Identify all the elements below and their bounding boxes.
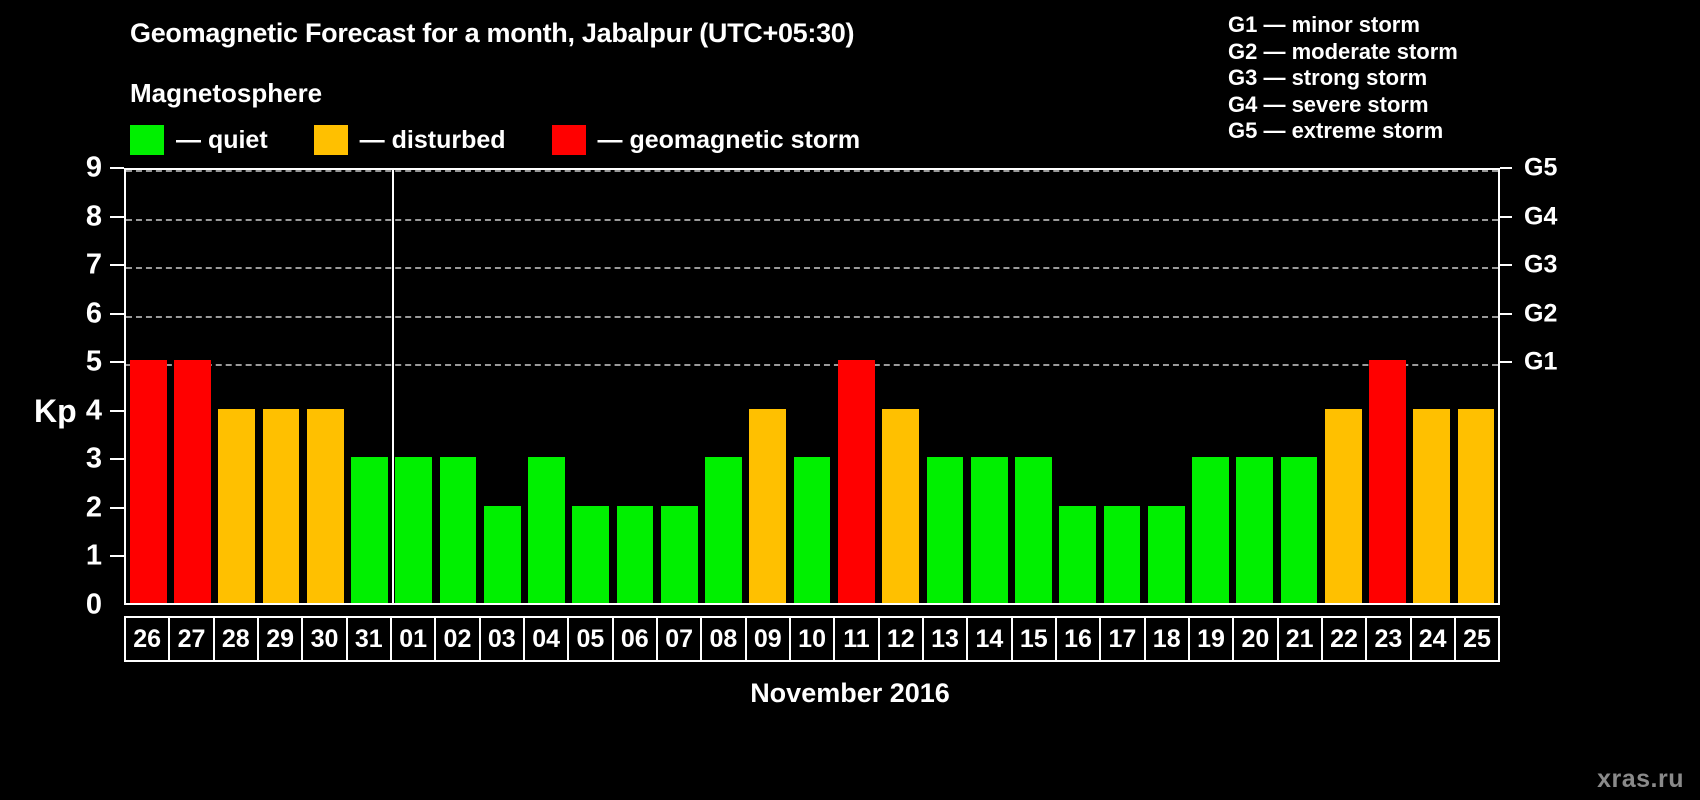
orange-square-swatch — [314, 125, 348, 155]
bar-cell[interactable] — [1056, 170, 1100, 603]
date-label: 31 — [355, 627, 383, 652]
bar-13[interactable] — [927, 457, 964, 603]
date-cell-27[interactable]: 27 — [168, 616, 214, 662]
date-label: 08 — [710, 627, 738, 652]
y-tick-mark-7 — [110, 264, 124, 266]
date-cell-06[interactable]: 06 — [612, 616, 658, 662]
bar-28[interactable] — [218, 409, 255, 603]
legend-item-quiet: — quiet — [130, 123, 268, 157]
bar-20[interactable] — [1236, 457, 1273, 603]
plot-inner — [126, 170, 1498, 603]
date-cell-11[interactable]: 11 — [833, 616, 879, 662]
y-tick-mark-8 — [110, 216, 124, 218]
y-tick-mark-5 — [110, 361, 124, 363]
x-axis-title: November 2016 — [0, 678, 1700, 709]
page-title: Geomagnetic Forecast for a month, Jabalp… — [130, 18, 854, 49]
bar-08[interactable] — [705, 457, 742, 603]
date-cell-31[interactable]: 31 — [346, 616, 392, 662]
date-label: 18 — [1153, 627, 1181, 652]
y-tick-label-4: 4 — [86, 394, 102, 427]
date-cell-24[interactable]: 24 — [1410, 616, 1456, 662]
g-tick-mark-g4 — [1500, 216, 1512, 218]
date-cell-22[interactable]: 22 — [1321, 616, 1367, 662]
bar-cell[interactable] — [613, 170, 657, 603]
bar-cell[interactable] — [657, 170, 701, 603]
bar-cell[interactable] — [1233, 170, 1277, 603]
legend-heading: Magnetosphere — [130, 78, 322, 109]
date-label: 25 — [1463, 627, 1491, 652]
date-label: 12 — [887, 627, 915, 652]
date-label: 01 — [399, 627, 427, 652]
y-axis-kp: 0123456789 — [0, 168, 124, 605]
bar-03[interactable] — [484, 506, 521, 603]
bar-cell[interactable] — [1188, 170, 1232, 603]
y-tick-mark-3 — [110, 458, 124, 460]
date-label: 19 — [1197, 627, 1225, 652]
g-tick-mark-g5 — [1500, 167, 1512, 169]
y-tick-mark-9 — [110, 167, 124, 169]
bar-04[interactable] — [528, 457, 565, 603]
bar-cell[interactable] — [215, 170, 259, 603]
date-cell-15[interactable]: 15 — [1011, 616, 1057, 662]
y-tick-label-0: 0 — [86, 589, 102, 622]
bar-27[interactable] — [174, 360, 211, 603]
bar-cell[interactable] — [1365, 170, 1409, 603]
bar-23[interactable] — [1369, 360, 1406, 603]
g-tick-mark-g3 — [1500, 264, 1512, 266]
red-square-swatch — [552, 125, 586, 155]
magnetosphere-legend: — quiet — disturbed — geomagnetic storm — [130, 123, 860, 157]
date-label: 16 — [1064, 627, 1092, 652]
date-label: 10 — [798, 627, 826, 652]
bar-cell[interactable] — [392, 170, 436, 603]
bar-cell[interactable] — [879, 170, 923, 603]
y-tick-label-5: 5 — [86, 346, 102, 379]
date-cell-12[interactable]: 12 — [878, 616, 924, 662]
g-tick-mark-g1 — [1500, 361, 1512, 363]
date-label: 26 — [133, 627, 161, 652]
bar-cell[interactable] — [524, 170, 568, 603]
date-cell-04[interactable]: 04 — [523, 616, 569, 662]
g-tick-label-g2: G2 — [1524, 299, 1557, 328]
bar-30[interactable] — [307, 409, 344, 603]
g-tick-label-g5: G5 — [1524, 154, 1557, 183]
bar-cell[interactable] — [436, 170, 480, 603]
bar-cell[interactable] — [1100, 170, 1144, 603]
date-label: 07 — [665, 627, 693, 652]
legend-item-disturbed: — disturbed — [314, 123, 506, 157]
y-tick-mark-6 — [110, 313, 124, 315]
y-tick-label-2: 2 — [86, 491, 102, 524]
date-label: 27 — [178, 627, 206, 652]
bar-cell[interactable] — [746, 170, 790, 603]
green-square-swatch — [130, 125, 164, 155]
date-label: 13 — [931, 627, 959, 652]
bar-12[interactable] — [882, 409, 919, 603]
bar-14[interactable] — [971, 457, 1008, 603]
gscale-line-3: G3 — strong storm — [1228, 65, 1458, 92]
bar-cell[interactable] — [259, 170, 303, 603]
date-label: 03 — [488, 627, 516, 652]
date-cell-19[interactable]: 19 — [1188, 616, 1234, 662]
bar-16[interactable] — [1059, 506, 1096, 603]
bar-07[interactable] — [661, 506, 698, 603]
date-label: 29 — [266, 627, 294, 652]
date-cell-20[interactable]: 20 — [1232, 616, 1278, 662]
gscale-line-5: G5 — extreme storm — [1228, 118, 1458, 145]
date-label: 15 — [1020, 627, 1048, 652]
y-axis-title: Kp — [34, 393, 77, 430]
y-tick-mark-4 — [110, 410, 124, 412]
bar-cell[interactable] — [1321, 170, 1365, 603]
bar-19[interactable] — [1192, 457, 1229, 603]
date-label: 21 — [1286, 627, 1314, 652]
date-label: 17 — [1108, 627, 1136, 652]
date-cell-09[interactable]: 09 — [745, 616, 791, 662]
legend-label-disturbed: — disturbed — [360, 126, 506, 155]
y-tick-label-1: 1 — [86, 540, 102, 573]
date-label: 14 — [975, 627, 1003, 652]
gscale-line-1: G1 — minor storm — [1228, 12, 1458, 39]
date-cell-30[interactable]: 30 — [301, 616, 347, 662]
date-cell-21[interactable]: 21 — [1277, 616, 1323, 662]
date-cell-13[interactable]: 13 — [922, 616, 968, 662]
bar-17[interactable] — [1104, 506, 1141, 603]
date-label: 09 — [754, 627, 782, 652]
date-label: 04 — [532, 627, 560, 652]
bar-cell[interactable] — [1410, 170, 1454, 603]
date-cell-02[interactable]: 02 — [434, 616, 480, 662]
date-label: 06 — [621, 627, 649, 652]
y-tick-mark-1 — [110, 555, 124, 557]
bar-cell[interactable] — [480, 170, 524, 603]
date-cell-25[interactable]: 25 — [1454, 616, 1500, 662]
date-cell-16[interactable]: 16 — [1055, 616, 1101, 662]
bar-26[interactable] — [130, 360, 167, 603]
bar-cell[interactable] — [569, 170, 613, 603]
g-tick-label-g1: G1 — [1524, 348, 1557, 377]
date-label: 02 — [444, 627, 472, 652]
bar-cell[interactable] — [126, 170, 170, 603]
date-cell-26[interactable]: 26 — [124, 616, 170, 662]
bar-cell[interactable] — [1011, 170, 1055, 603]
x-axis-dates: 2627282930310102030405060708091011121314… — [124, 616, 1500, 662]
gscale-line-2: G2 — moderate storm — [1228, 39, 1458, 66]
bar-cell[interactable] — [834, 170, 878, 603]
date-cell-05[interactable]: 05 — [567, 616, 613, 662]
date-cell-10[interactable]: 10 — [789, 616, 835, 662]
y-tick-label-3: 3 — [86, 443, 102, 476]
bar-31[interactable] — [351, 457, 388, 603]
bar-24[interactable] — [1413, 409, 1450, 603]
date-label: 22 — [1330, 627, 1358, 652]
date-label: 20 — [1241, 627, 1269, 652]
bar-29[interactable] — [263, 409, 300, 603]
date-cell-08[interactable]: 08 — [700, 616, 746, 662]
plot-area — [124, 168, 1500, 605]
bar-cell[interactable] — [701, 170, 745, 603]
bar-02[interactable] — [440, 457, 477, 603]
bar-cell[interactable] — [790, 170, 834, 603]
bar-cell[interactable] — [1144, 170, 1188, 603]
date-cell-18[interactable]: 18 — [1144, 616, 1190, 662]
legend-item-storm: — geomagnetic storm — [552, 123, 861, 157]
bar-06[interactable] — [617, 506, 654, 603]
bar-cell[interactable] — [1277, 170, 1321, 603]
date-cell-28[interactable]: 28 — [213, 616, 259, 662]
date-cell-14[interactable]: 14 — [966, 616, 1012, 662]
bar-22[interactable] — [1325, 409, 1362, 603]
watermark: xras.ru — [1597, 765, 1684, 794]
date-cell-29[interactable]: 29 — [257, 616, 303, 662]
y-tick-mark-2 — [110, 507, 124, 509]
bar-05[interactable] — [572, 506, 609, 603]
bar-18[interactable] — [1148, 506, 1185, 603]
bar-09[interactable] — [749, 409, 786, 603]
date-cell-01[interactable]: 01 — [390, 616, 436, 662]
bar-cell[interactable] — [303, 170, 347, 603]
y-tick-label-8: 8 — [86, 200, 102, 233]
g-tick-label-g4: G4 — [1524, 202, 1557, 231]
date-cell-23[interactable]: 23 — [1365, 616, 1411, 662]
bar-15[interactable] — [1015, 457, 1052, 603]
forecast-divider-line — [392, 170, 394, 603]
g-tick-mark-g2 — [1500, 313, 1512, 315]
date-cell-03[interactable]: 03 — [479, 616, 525, 662]
g-scale-legend: G1 — minor stormG2 — moderate stormG3 — … — [1228, 12, 1458, 145]
date-label: 05 — [577, 627, 605, 652]
g-tick-label-g3: G3 — [1524, 251, 1557, 280]
bar-11[interactable] — [838, 360, 875, 603]
bar-cell[interactable] — [1454, 170, 1498, 603]
date-label: 23 — [1374, 627, 1402, 652]
y-tick-label-6: 6 — [86, 297, 102, 330]
bar-21[interactable] — [1281, 457, 1318, 603]
bar-cell[interactable] — [967, 170, 1011, 603]
date-label: 11 — [843, 627, 869, 652]
bar-cell[interactable] — [170, 170, 214, 603]
g-axis-storm-scale: G1G2G3G4G5 — [1500, 168, 1700, 605]
bar-10[interactable] — [794, 457, 831, 603]
y-tick-label-9: 9 — [86, 152, 102, 185]
bar-series — [126, 170, 1498, 603]
date-label: 30 — [311, 627, 339, 652]
date-label: 24 — [1419, 627, 1447, 652]
bar-cell[interactable] — [347, 170, 391, 603]
bar-25[interactable] — [1458, 409, 1495, 603]
y-tick-label-7: 7 — [86, 249, 102, 282]
date-cell-17[interactable]: 17 — [1099, 616, 1145, 662]
bar-cell[interactable] — [923, 170, 967, 603]
legend-label-quiet: — quiet — [176, 126, 268, 155]
geomagnetic-forecast-chart: Geomagnetic Forecast for a month, Jabalp… — [0, 0, 1700, 800]
bar-01[interactable] — [395, 457, 432, 603]
date-cell-07[interactable]: 07 — [656, 616, 702, 662]
legend-label-storm: — geomagnetic storm — [598, 126, 861, 155]
gscale-line-4: G4 — severe storm — [1228, 92, 1458, 119]
date-label: 28 — [222, 627, 250, 652]
